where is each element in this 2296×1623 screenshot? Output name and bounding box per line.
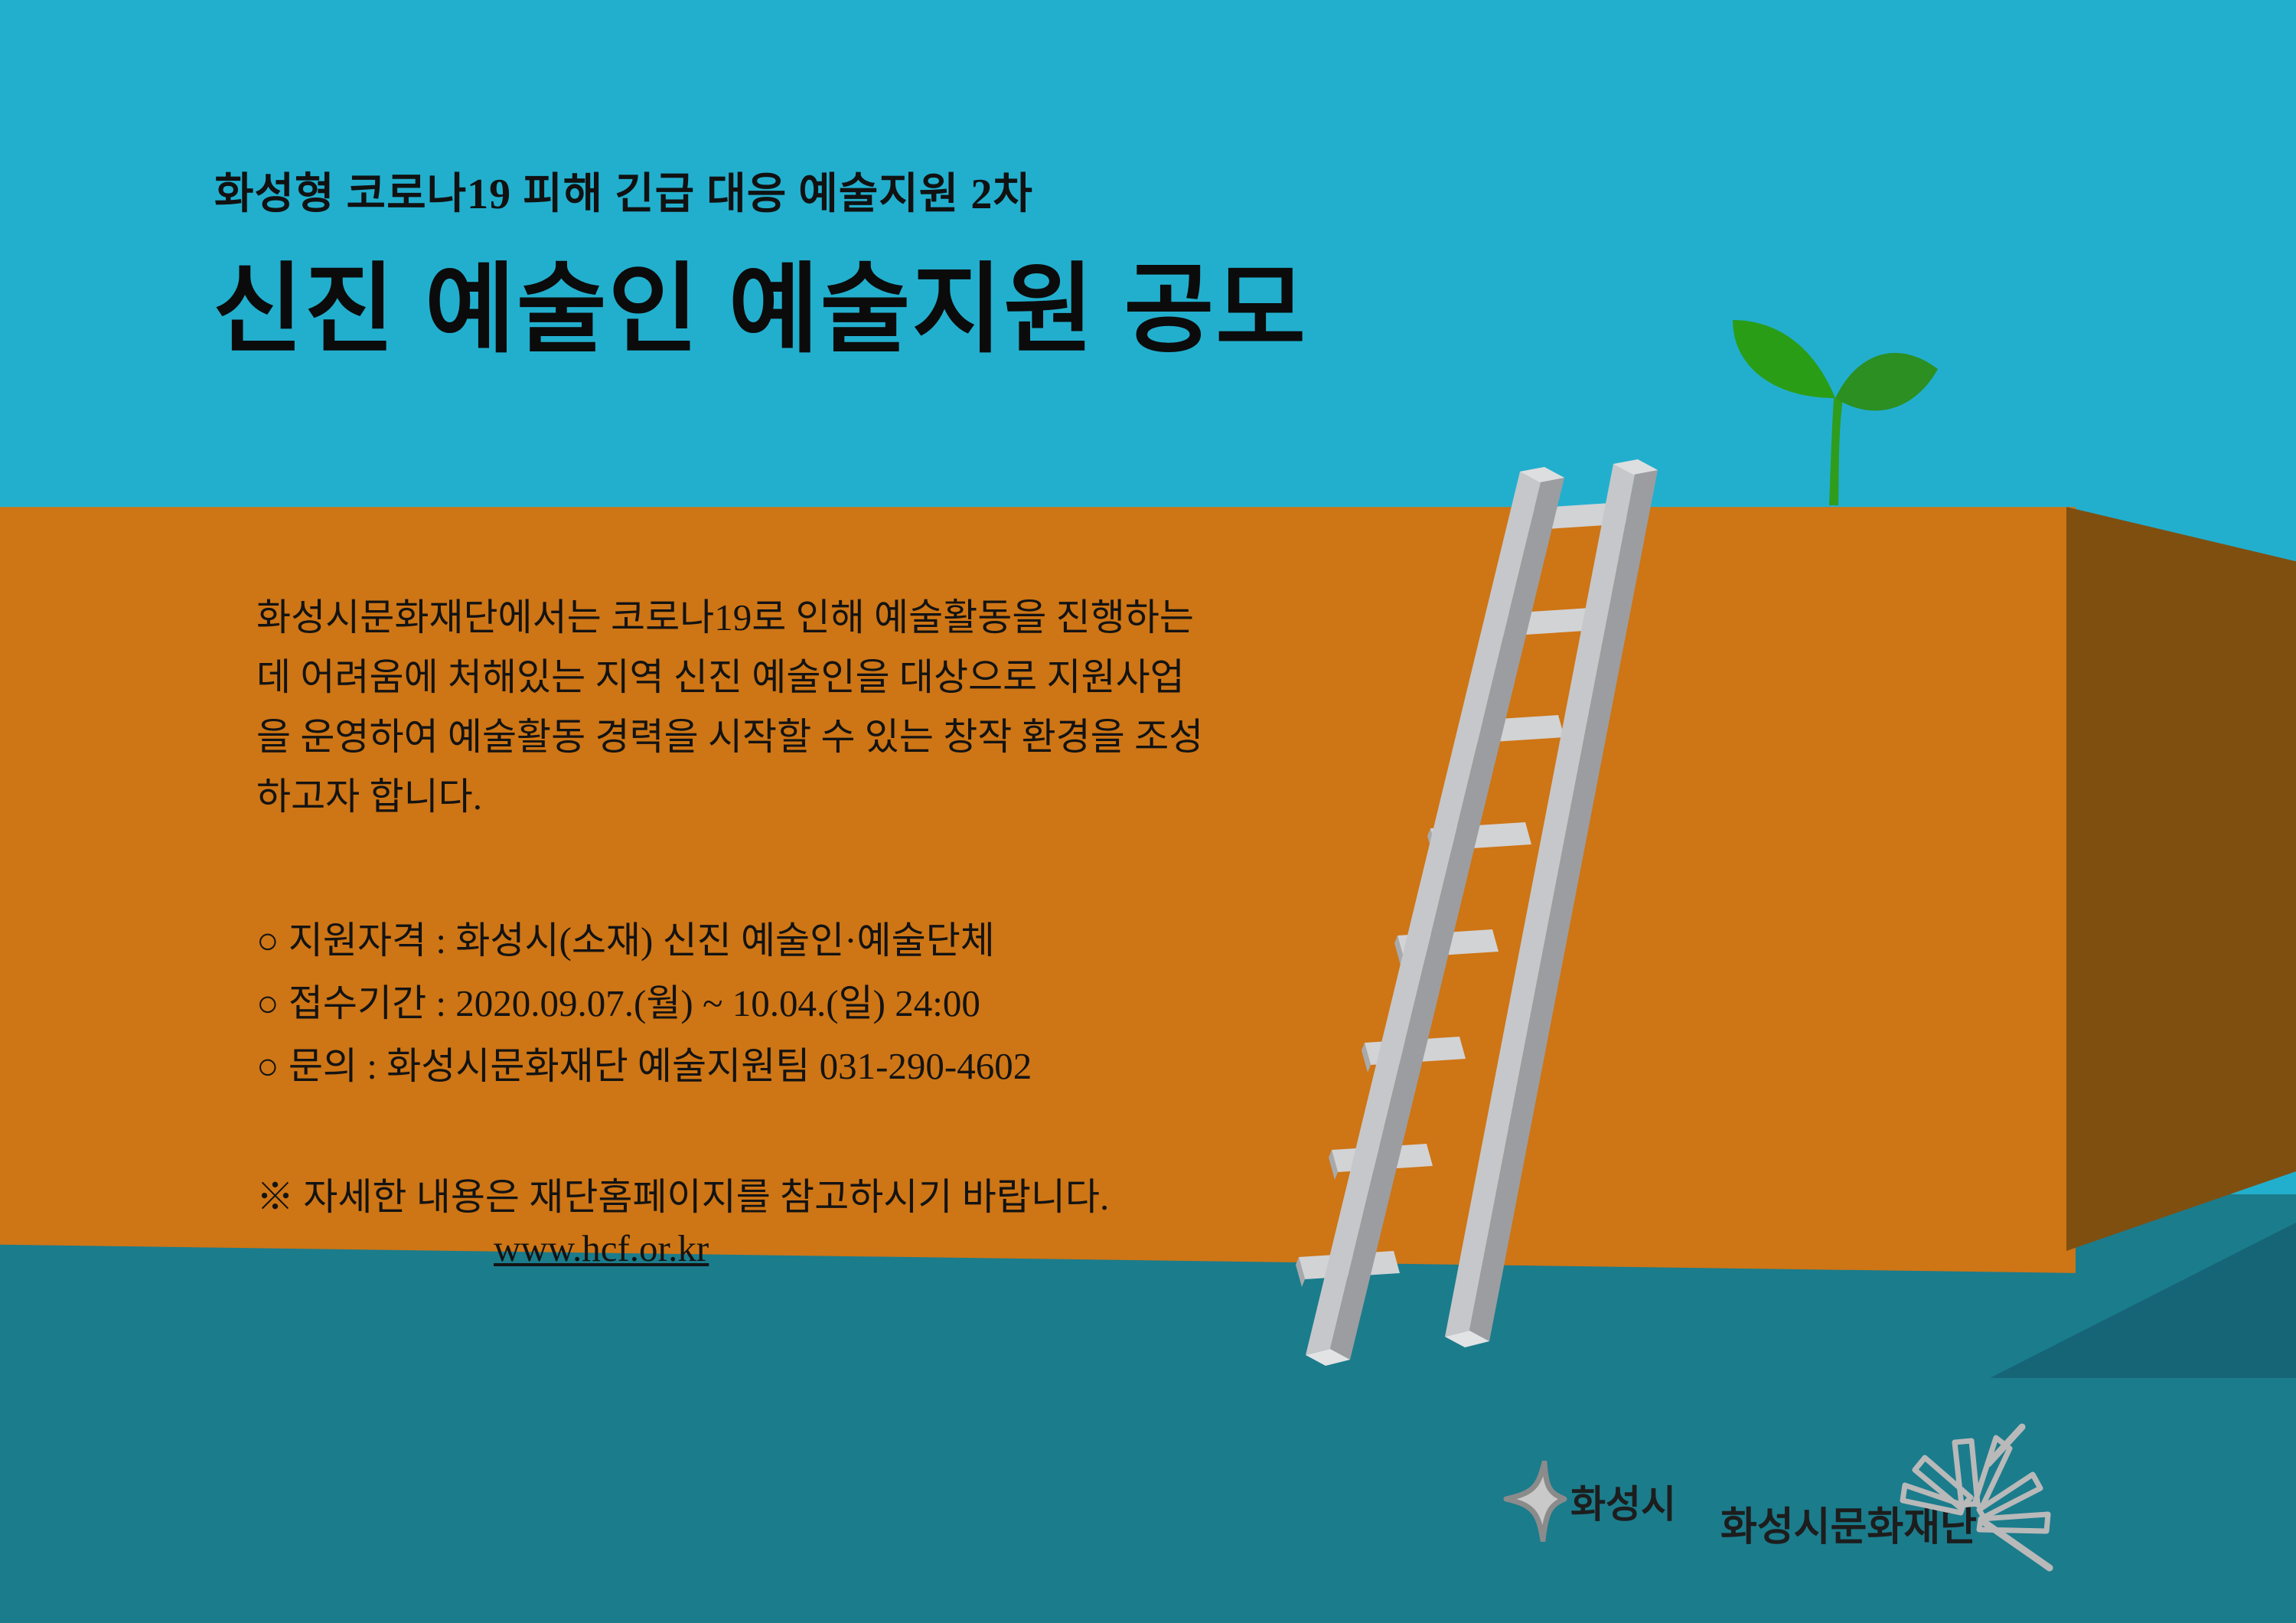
poster-title: 신진 예술인 예술지원 공모 — [213, 230, 1307, 371]
notice-text: ※ 자세한 내용은 재단홈페이지를 참고하시기 바랍니다. — [256, 1168, 1297, 1226]
website-line: www.hcf.or.kr — [256, 1226, 1297, 1270]
poster-subtitle: 화성형 코로나19 피해 긴급 대응 예술지원 2차 — [214, 159, 1033, 221]
intro-paragraph: 화성시문화재단에서는 코로나19로 인해 예술활동을 진행하는 데 어려움에 처… — [256, 588, 1297, 827]
sprout-icon — [1707, 276, 1967, 521]
four-point-star-icon — [1500, 1461, 1567, 1542]
info-list: ○ 지원자격 : 화성시(소재) 신진 예술인·예술단체 ○ 접수기간 : 20… — [256, 909, 1297, 1098]
list-item: ○ 문의 : 화성시문화재단 예술지원팀 031-290-4602 — [256, 1035, 1297, 1098]
list-item: ○ 지원자격 : 화성시(소재) 신진 예술인·예술단체 — [256, 909, 1297, 972]
city-logo-label: 화성시 — [1570, 1474, 1676, 1529]
foundation-logo: 화성시문화재단 — [1720, 1455, 2042, 1585]
sunburst-rays-icon — [1898, 1421, 2059, 1574]
logo-row: 화성시 화성시문화재단 — [1500, 1455, 2112, 1600]
poster-canvas: 화성형 코로나19 피해 긴급 대응 예술지원 2차 신진 예술인 예술지원 공… — [0, 0, 2296, 1623]
poster-body: 화성시문화재단에서는 코로나19로 인해 예술활동을 진행하는 데 어려움에 처… — [256, 588, 1297, 1270]
website-link[interactable]: www.hcf.or.kr — [494, 1227, 709, 1269]
list-item: ○ 접수기간 : 2020.09.07.(월) ~ 10.04.(일) 24:0… — [256, 972, 1297, 1035]
city-logo: 화성시 — [1500, 1461, 1676, 1542]
